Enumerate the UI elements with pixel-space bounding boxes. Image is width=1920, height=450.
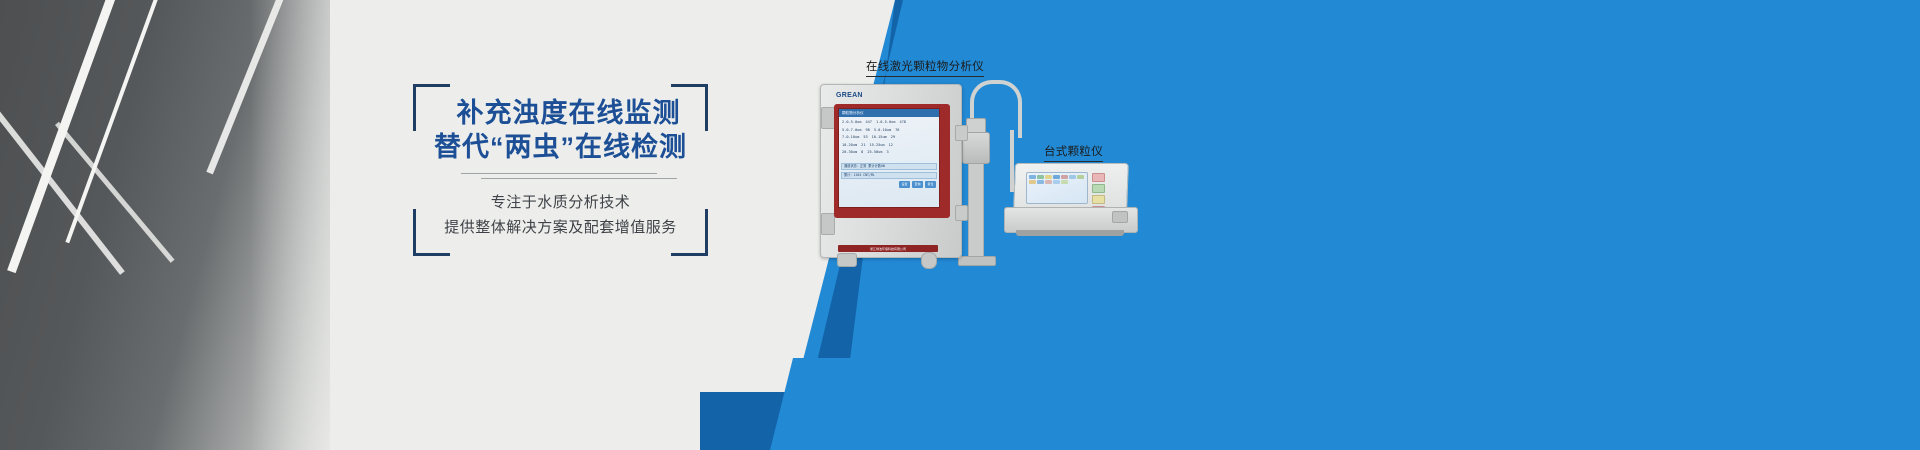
analyzer-screen: 颗粒物分析仪 2.0-5.0um 447 1.0-5.0um 478 5.0-7… (838, 108, 940, 208)
analyzer-hinge (821, 213, 835, 235)
cell: 478 (899, 120, 906, 125)
cell: 8 (861, 150, 863, 155)
subtitle-line-1: 专注于水质分析技术 (413, 190, 708, 215)
screen-button[interactable]: 查询 (912, 181, 923, 188)
subtitle-line-2: 提供整体解决方案及配套增值服务 (413, 215, 708, 240)
screen-data-grid: 2.0-5.0um 447 1.0-5.0um 478 5.0-7.0um 98… (839, 117, 939, 161)
cell: 29 (891, 135, 895, 140)
screen-cell (1061, 180, 1068, 184)
product-label-desktop-text: 台式颗粒仪 (1044, 143, 1103, 162)
screen-cell (1077, 175, 1084, 179)
bracket-bottom-left (413, 209, 450, 256)
cell: 25-50um (867, 150, 882, 155)
cell: 10-20um (842, 143, 857, 148)
analyzer-brand-logo: GREAN (836, 92, 863, 99)
diagonal-stripe (55, 122, 175, 263)
bracket-bottom-right (671, 209, 708, 256)
cell: 12 (889, 143, 893, 148)
product-label-desktop: 台式颗粒仪 (1044, 143, 1103, 162)
screen-data-row: 20-30um 8 25-50um 3 (842, 150, 936, 155)
bracket-top-left (413, 84, 450, 131)
screen-data-row: 2.0-5.0um 447 1.0-5.0um 478 (842, 120, 936, 125)
divider-rule-top (461, 173, 657, 174)
cell: 20-30um (842, 150, 857, 155)
analyzer-connector (921, 252, 937, 269)
screen-cell (1029, 180, 1036, 184)
analyzer-company-plate: 浙江绿洁环保科技有限公司 (838, 245, 938, 252)
analyzer-device: GREAN 颗粒物分析仪 2.0-5.0um 447 1.0-5.0um 478… (812, 84, 972, 264)
headline-line-2: 替代“两虫”在线检测 (413, 130, 708, 164)
screen-value-bar: 累计：1204 CNT/ML (841, 172, 937, 179)
screen-cell (1037, 175, 1044, 179)
screen-cell (1053, 180, 1060, 184)
promo-banner: 补充浊度在线监测 替代“两虫”在线检测 专注于水质分析技术 提供整体解决方案及配… (0, 0, 1920, 450)
cell: 5.0-10um (874, 128, 891, 133)
keypad-key[interactable] (1092, 195, 1105, 204)
screen-data-row: 10-20um 21 15-25um 12 (842, 143, 936, 148)
analyzer-cable-gland (837, 253, 857, 267)
cell: 447 (865, 120, 872, 125)
desktop-particle-counter (1000, 163, 1140, 251)
divider-rule-bottom (481, 178, 677, 179)
cell: 3 (886, 150, 888, 155)
desktop-feet (1016, 230, 1124, 236)
subtitle: 专注于水质分析技术 提供整体解决方案及配套增值服务 (413, 190, 708, 240)
screen-data-row: 7.0-10um 53 10-15um 29 (842, 135, 936, 140)
screen-button[interactable]: 设置 (899, 181, 910, 188)
keypad-key[interactable] (1092, 173, 1105, 182)
panel-fade-overlay (250, 0, 430, 450)
screen-button-row: 设置 查询 复位 (839, 181, 939, 188)
screen-cell (1029, 175, 1036, 179)
product-label-analyzer: 在线激光颗粒物分析仪 (866, 58, 984, 77)
desktop-screen (1026, 172, 1088, 204)
analyzer-latch (955, 205, 968, 221)
headline: 补充浊度在线监测 替代“两虫”在线检测 (413, 84, 708, 164)
cell: 5.0-7.0um (842, 128, 861, 133)
screen-button[interactable]: 复位 (925, 181, 936, 188)
cell: 2.0-5.0um (842, 120, 861, 125)
cell: 7.0-10um (842, 135, 859, 140)
cell: 15-25um (869, 143, 884, 148)
cell: 53 (863, 135, 867, 140)
product-label-analyzer-text: 在线激光颗粒物分析仪 (866, 58, 984, 77)
screen-cell (1045, 175, 1052, 179)
cell: 21 (861, 143, 865, 148)
screen-cell (1053, 175, 1060, 179)
headline-line-1: 补充浊度在线监测 (413, 96, 708, 130)
screen-cell (1061, 175, 1068, 179)
screen-cell (1037, 180, 1044, 184)
keypad-key[interactable] (1092, 184, 1105, 193)
screen-cell (1069, 175, 1076, 179)
screen-data-row: 5.0-7.0um 98 5.0-10um 76 (842, 128, 936, 133)
bracket-top-right (671, 84, 708, 131)
cell: 76 (895, 128, 899, 133)
screen-status-bar: 通道状态：正常 累计计数ON (841, 163, 937, 170)
desktop-port (1112, 211, 1128, 223)
screen-title-bar: 颗粒物分析仪 (839, 109, 939, 117)
analyzer-latch (955, 125, 968, 141)
screen-cell (1045, 180, 1052, 184)
analyzer-stand (968, 162, 984, 260)
analyzer-foot (958, 256, 996, 266)
cell: 1.0-5.0um (876, 120, 895, 125)
cell: 98 (865, 128, 869, 133)
analyzer-hinge (821, 107, 835, 129)
cell: 10-15um (872, 135, 887, 140)
headline-block: 补充浊度在线监测 替代“两虫”在线检测 专注于水质分析技术 提供整体解决方案及配… (413, 84, 708, 256)
